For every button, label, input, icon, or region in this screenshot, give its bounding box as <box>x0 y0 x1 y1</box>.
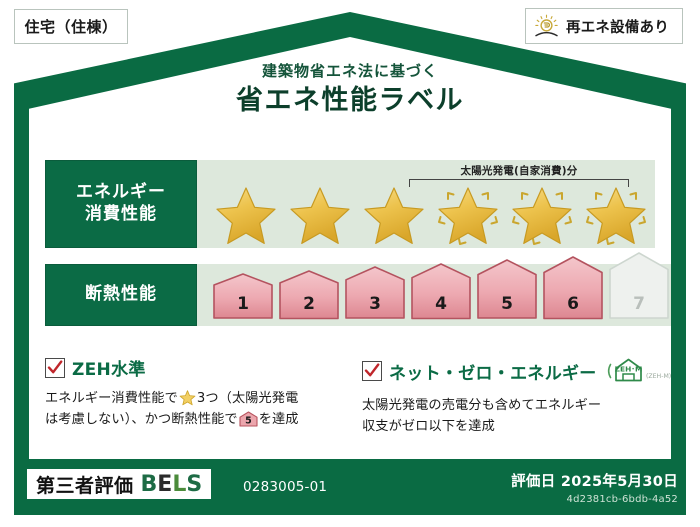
insulation-level-7: 7 <box>607 251 671 320</box>
energy-performance-value: 太陽光発電(自家消費)分 <box>197 160 655 248</box>
star-solar-icon <box>506 182 578 248</box>
criterion-zeh-line2-a: は考慮しない）、かつ断熱性能で <box>45 412 238 427</box>
bels-logo: BELS <box>141 472 203 497</box>
criterion-nze-line2: 収支がゼロ以下を達成 <box>362 416 662 437</box>
insulation-level-value: 3 <box>343 294 407 314</box>
label-title-block: 建築物省エネ法に基づく 省エネ性能ラベル <box>0 62 700 116</box>
renewable-equipment-badge: 再エネ設備あり <box>525 8 683 44</box>
insulation-scale: 1234567 <box>197 264 671 326</box>
criterion-zeh-standard: ZEH水準 エネルギー消費性能で3つ（太陽光発電 は考慮しない）、かつ断熱性能で… <box>45 355 345 431</box>
insulation-level-4: 4 <box>409 262 473 321</box>
insulation-key-label: 断熱性能 <box>85 284 157 306</box>
criterion-zeh-line2: は考慮しない）、かつ断熱性能で5を達成 <box>45 409 345 430</box>
building-type-label: 住宅（住棟） <box>24 16 117 37</box>
svg-text:ZEH･M: ZEH･M <box>614 365 642 374</box>
title-main: 省エネ性能ラベル <box>0 85 700 116</box>
checkbox-checked-icon <box>45 358 65 378</box>
insulation-performance-value: 1234567 <box>197 264 671 326</box>
insulation-level-value: 4 <box>409 294 473 314</box>
star-solar-icon <box>580 182 652 248</box>
criterion-zeh-line1: エネルギー消費性能で3つ（太陽光発電 <box>45 388 345 409</box>
checkbox-checked-icon <box>362 361 382 381</box>
label-hash: 4d2381cb-6bdb-4a52 <box>511 494 678 505</box>
criterion-nze-title: ネット・ゼロ・エネルギー <box>389 359 597 384</box>
insulation-level-value: 6 <box>541 294 605 314</box>
house-5-icon: 5 <box>239 411 258 427</box>
energy-key-line1: エネルギー <box>76 182 166 204</box>
insulation-level-value: 7 <box>607 294 671 314</box>
evaluation-date: 評価日 2025年5月30日 <box>511 470 678 491</box>
bels-energy-label: 住宅（住棟） 再エネ設備あり 建築物省エネ法に基づく 省エネ性能ラベル エネル <box>0 0 700 527</box>
star-icon <box>179 390 196 406</box>
renewable-badge-label: 再エネ設備あり <box>566 16 669 37</box>
third-party-label: 第三者評価 <box>36 471 134 498</box>
svg-text:5: 5 <box>245 416 252 427</box>
svg-text:(ZEH-M): (ZEH-M) <box>646 373 671 380</box>
solar-bracket <box>409 179 629 187</box>
energy-performance-key: エネルギー 消費性能 <box>45 160 197 248</box>
criterion-zeh-header: ZEH水準 <box>45 355 345 380</box>
zeh-m-logo: ZEH･M (ZEH-M) <box>606 355 678 387</box>
criterion-nze-header: ネット・ゼロ・エネルギー ZEH･M (ZEH-M) <box>362 355 662 387</box>
solar-self-consumption-annotation: 太陽光発電(自家消費)分 <box>409 163 629 187</box>
insulation-performance-key: 断熱性能 <box>45 264 197 326</box>
energy-performance-row: エネルギー 消費性能 太陽光発電(自家消費)分 <box>45 160 655 248</box>
star-icon <box>210 182 282 248</box>
insulation-level-value: 5 <box>475 294 539 314</box>
criterion-zeh-body: エネルギー消費性能で3つ（太陽光発電 は考慮しない）、かつ断熱性能で5を達成 <box>45 388 345 431</box>
third-party-plate: 第三者評価 BELS <box>27 469 211 499</box>
insulation-performance-row: 断熱性能 1234567 <box>45 264 655 326</box>
criterion-zeh-line2-b: を達成 <box>259 412 299 427</box>
insulation-level-1: 1 <box>211 272 275 320</box>
star-icon <box>358 182 430 248</box>
criterion-zeh-line1-b: 3つ（太陽光発電 <box>197 391 299 406</box>
footer-meta: 評価日 2025年5月30日 4d2381cb-6bdb-4a52 <box>511 470 678 505</box>
star-icon <box>284 182 356 248</box>
title-subtitle: 建築物省エネ法に基づく <box>0 62 700 80</box>
insulation-level-2: 2 <box>277 269 341 321</box>
insulation-level-6: 6 <box>541 255 605 321</box>
energy-key-line2: 消費性能 <box>85 204 157 226</box>
criterion-nze-line1: 太陽光発電の売電分も含めてエネルギー <box>362 395 662 416</box>
solar-note-caption: 太陽光発電(自家消費)分 <box>409 163 629 178</box>
sun-icon <box>533 14 560 39</box>
criterion-net-zero-energy: ネット・ゼロ・エネルギー ZEH･M (ZEH-M) 太陽光発電の売電分も含めて… <box>362 355 662 438</box>
criterion-zeh-line1-a: エネルギー消費性能で <box>45 391 178 406</box>
certificate-number: 0283005-01 <box>243 479 327 495</box>
criterion-nze-body: 太陽光発電の売電分も含めてエネルギー 収支がゼロ以下を達成 <box>362 395 662 438</box>
criterion-zeh-title: ZEH水準 <box>72 355 146 380</box>
star-solar-icon <box>432 182 504 248</box>
insulation-level-3: 3 <box>343 265 407 320</box>
insulation-level-value: 2 <box>277 294 341 314</box>
building-type-tab: 住宅（住棟） <box>14 9 128 44</box>
insulation-level-value: 1 <box>211 294 275 314</box>
insulation-level-5: 5 <box>475 258 539 320</box>
